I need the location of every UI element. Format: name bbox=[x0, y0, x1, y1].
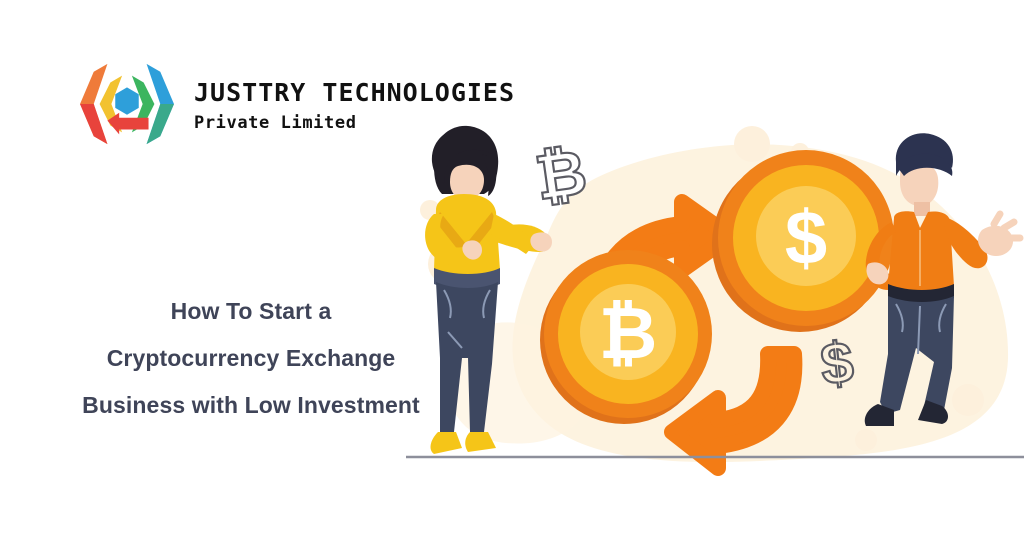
floating-bitcoin-symbol-icon: ₿ bbox=[531, 138, 591, 213]
svg-text:$: $ bbox=[818, 330, 857, 398]
svg-text:₿: ₿ bbox=[531, 138, 591, 213]
svg-text:$: $ bbox=[785, 196, 827, 281]
floating-dollar-symbol-icon: $ bbox=[818, 330, 857, 398]
promo-banner: JUSTTRY TECHNOLOGIES Private Limited How… bbox=[0, 0, 1024, 538]
svg-text:₿: ₿ bbox=[599, 294, 658, 374]
hexagon-chevron-logo-icon bbox=[78, 58, 176, 150]
crypto-exchange-illustration: ₿ $ ₿ bbox=[396, 118, 1024, 478]
brand-name: JUSTTRY TECHNOLOGIES bbox=[194, 79, 515, 107]
